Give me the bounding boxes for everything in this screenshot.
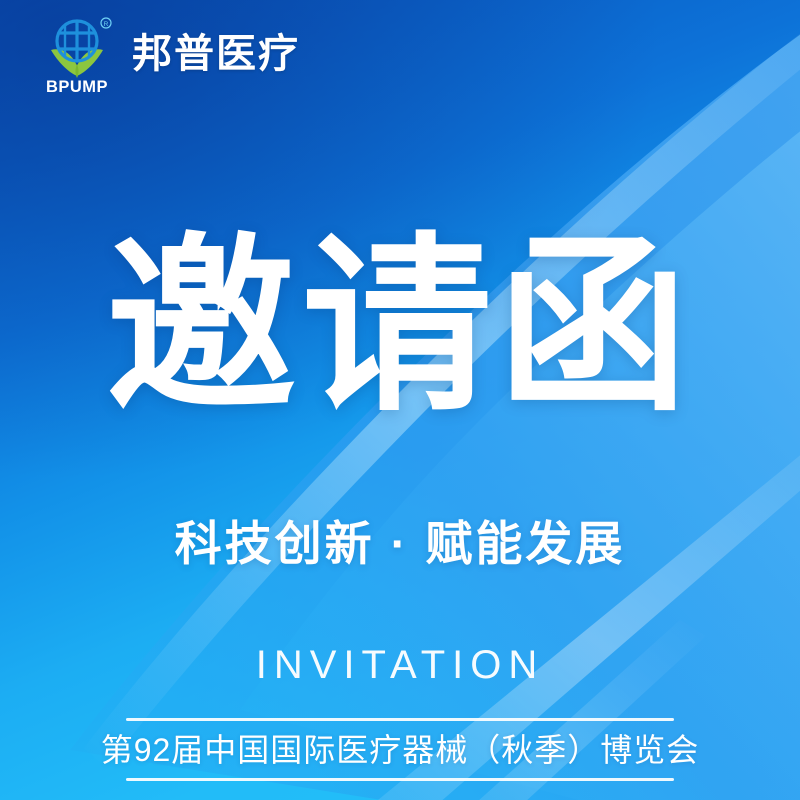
svg-text:BPUMP: BPUMP (46, 78, 108, 94)
page-title: 邀请函 (106, 236, 694, 418)
english-title: INVITATION (0, 643, 800, 688)
svg-text:R: R (104, 21, 109, 28)
event-name: 第92届中国国际医疗器械（秋季）博览会 (101, 721, 700, 778)
subtitle: 科技创新 · 赋能发展 (0, 505, 800, 574)
brand-header: R BPUMP 邦普医疗 (38, 14, 300, 94)
divider-bottom (126, 778, 674, 781)
main-title-area: 邀请函 (0, 236, 800, 418)
invitation-poster: R BPUMP 邦普医疗 邀请函 科技创新 · 赋能发展 INVITATION … (0, 0, 800, 800)
footer-block: 第92届中国国际医疗器械（秋季）博览会 (0, 718, 800, 781)
brand-name: 邦普医疗 (132, 34, 300, 74)
bpump-logo: R BPUMP (38, 14, 116, 94)
